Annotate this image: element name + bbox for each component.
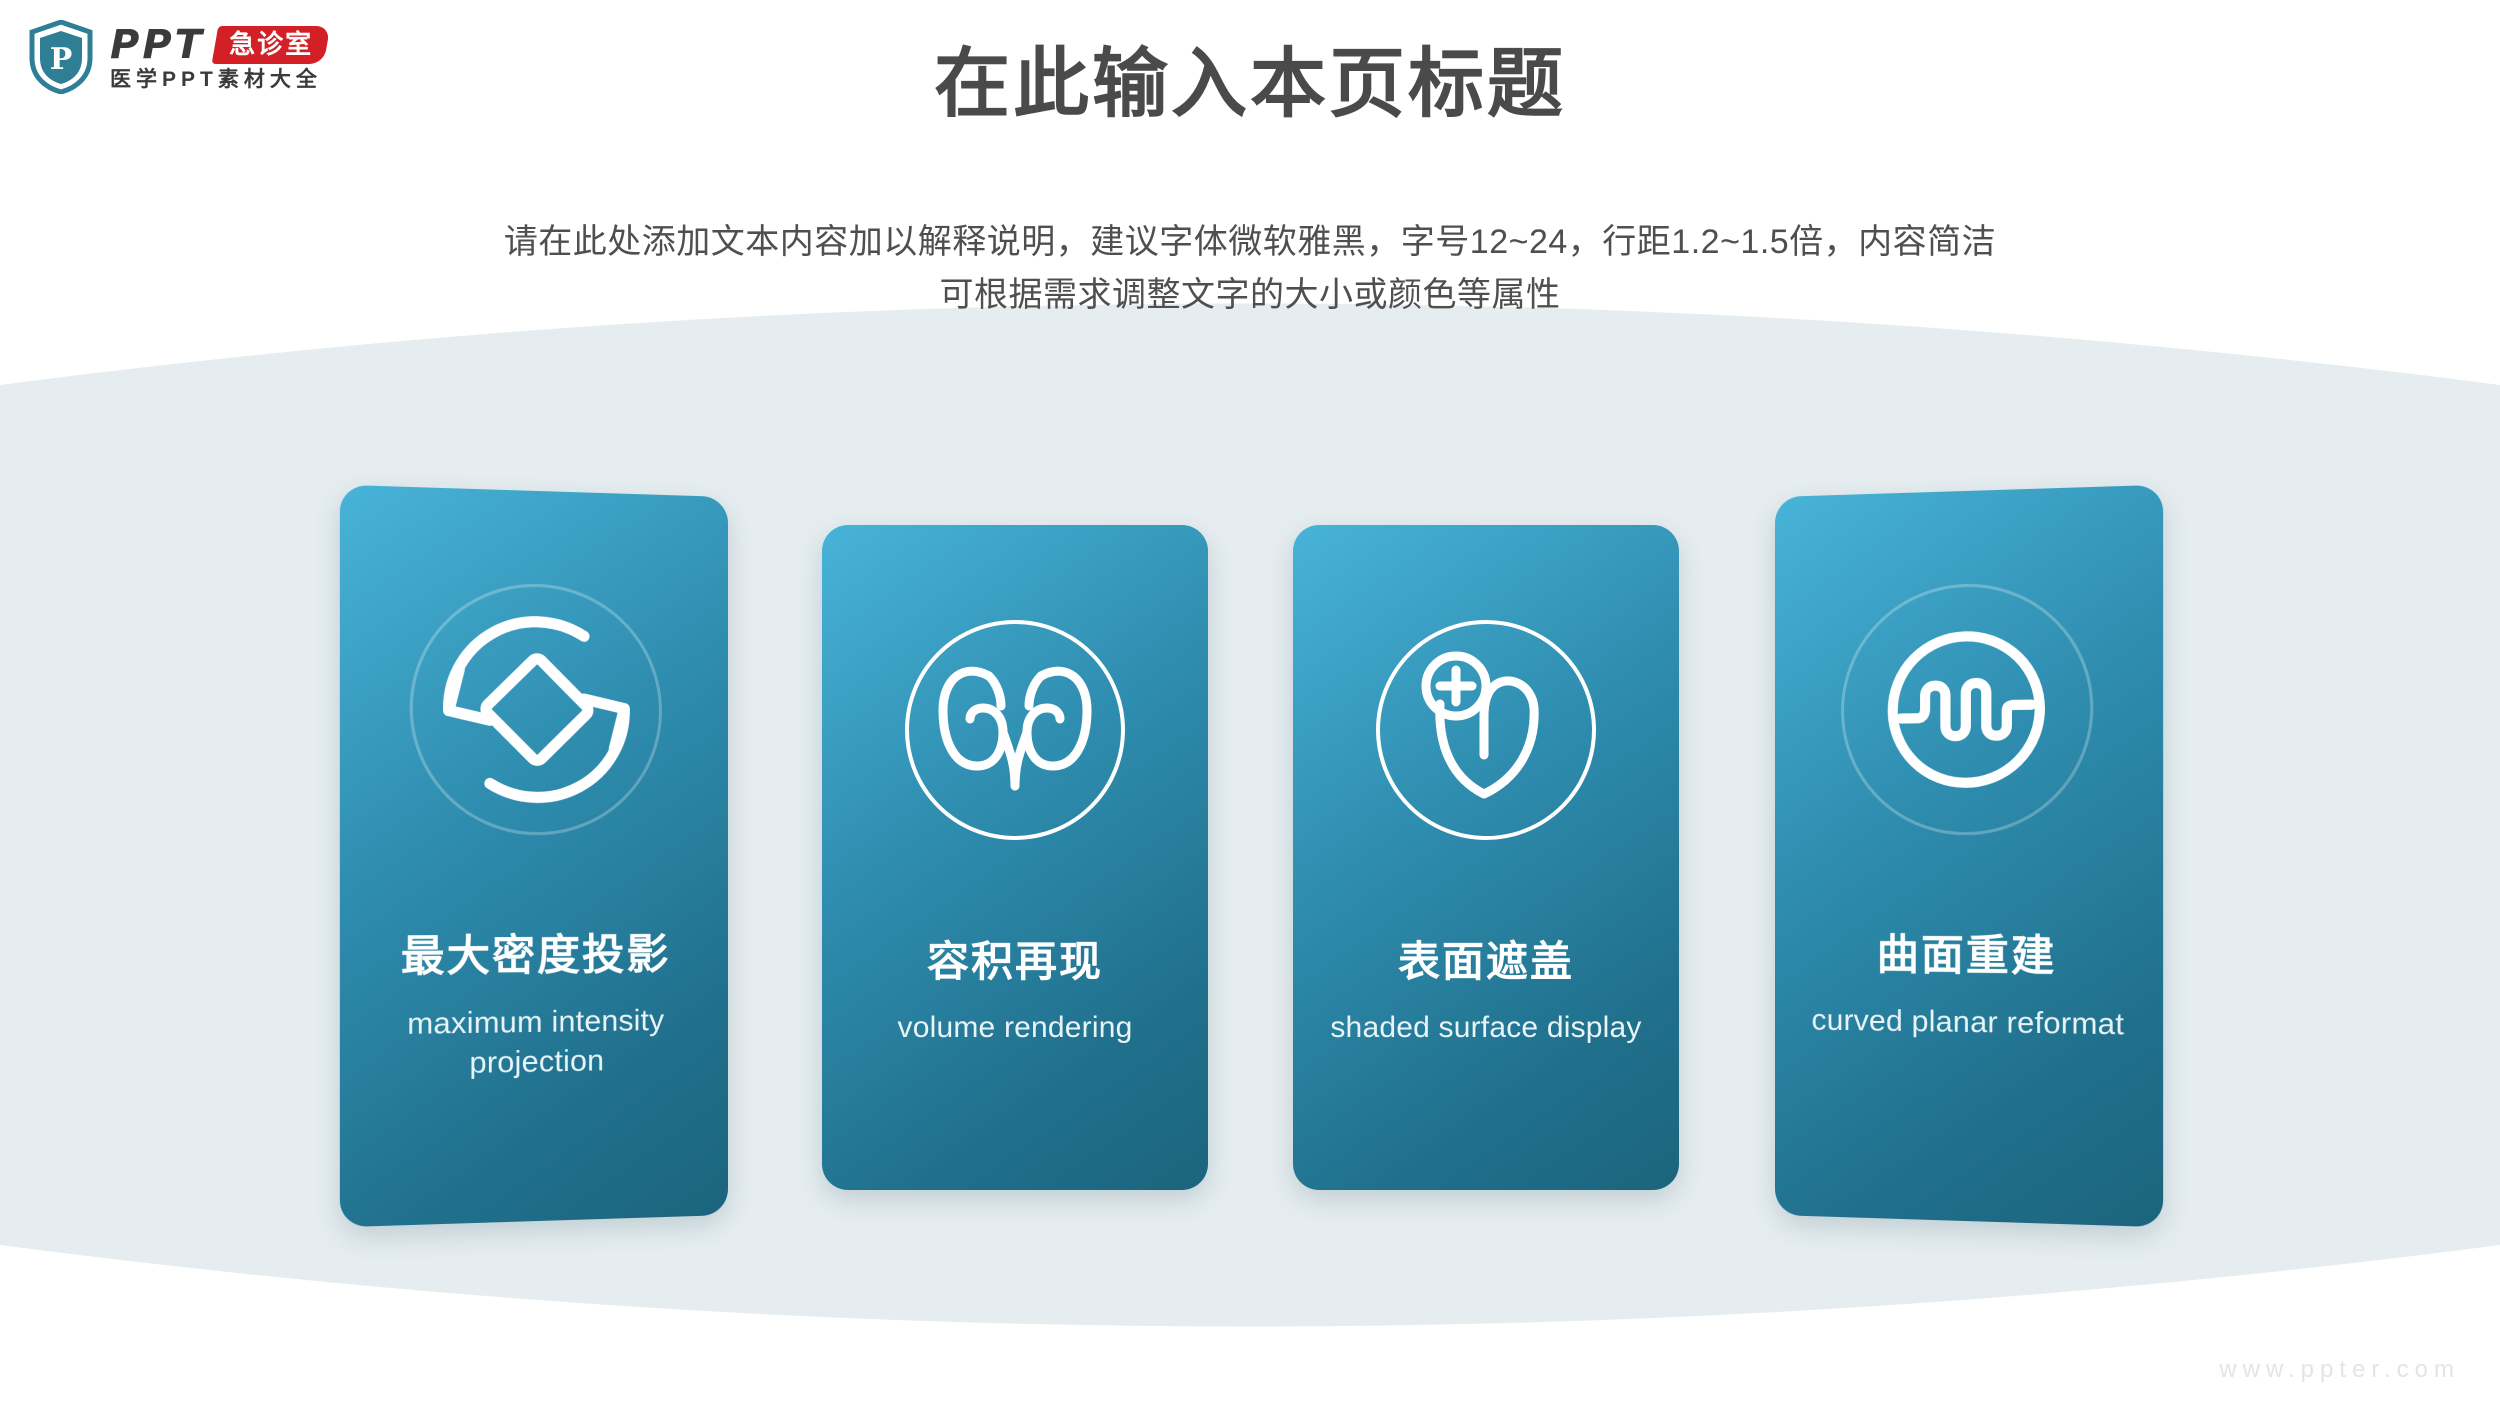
card-volume-rendering[interactable]: 容积再现 volume rendering — [822, 525, 1208, 1190]
card-title-cn: 表面遮盖 — [1398, 937, 1574, 987]
card-title-en: maximum intensity projection — [340, 1001, 728, 1085]
slide-canvas: P PPT 急诊室 医学PPT素材大全 在此输入本页标题 请在此处添加文本内容加… — [0, 0, 2500, 1406]
card-title-en: volume rendering — [874, 1009, 1157, 1047]
card-title-cn: 最大密度投影 — [401, 929, 671, 983]
card-curved-planar-reformat[interactable]: 曲面重建 curved planar reformat — [1775, 485, 2163, 1228]
card-shaded-surface-display[interactable]: 表面遮盖 shaded surface display — [1293, 525, 1679, 1190]
kidneys-icon — [885, 600, 1145, 860]
footer-watermark-url: www.ppter.com — [2219, 1356, 2460, 1384]
wave-circle-icon — [1815, 553, 2121, 862]
card-icon-area — [1293, 525, 1679, 935]
card-title-en: shaded surface display — [1306, 1009, 1665, 1047]
card-title-cn: 曲面重建 — [1877, 930, 2057, 983]
heart-plus-icon — [1356, 600, 1616, 860]
card-title-cn: 容积再现 — [927, 937, 1103, 987]
card-maximum-intensity-projection[interactable]: 最大密度投影 maximum intensity projection — [340, 485, 728, 1228]
card-icon-area — [822, 525, 1208, 935]
card-icon-area — [1775, 485, 2163, 930]
rotate-diamond-icon — [382, 553, 688, 862]
card-icon-area — [340, 485, 728, 930]
card-list: 最大密度投影 maximum intensity projection — [0, 0, 2500, 1406]
card-title-en: curved planar reformat — [1788, 1002, 2150, 1046]
